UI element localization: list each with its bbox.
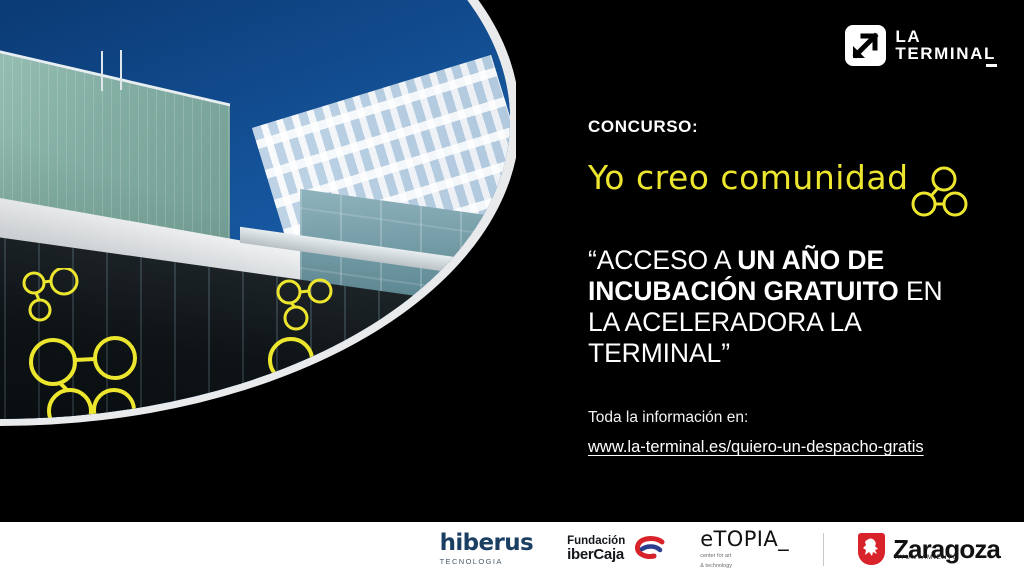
arrow-up-right-icon <box>845 25 886 66</box>
etopia-tagline-1: center for art <box>700 553 731 560</box>
logo-line-terminal: TERMINAL <box>895 46 996 62</box>
campaign-title-text: Yo creo comunidad <box>588 158 909 197</box>
campaign-url-link[interactable]: www.la-terminal.es/quiero-un-despacho-gr… <box>588 438 924 457</box>
sponsor-fundacion-ibercaja[interactable]: Fundación iberCaja <box>567 535 666 563</box>
molecule-cluster-right-mid <box>262 330 382 440</box>
logo-terminal-text: TERMINAL <box>895 44 996 63</box>
ibercaja-wordmark: Fundación iberCaja <box>567 535 625 563</box>
info-label: Toda la información en: <box>588 409 748 427</box>
la-terminal-wordmark: LA TERMINAL <box>895 29 996 62</box>
hiberus-tagline: TECNOLOGIA <box>440 558 503 566</box>
logo-underscore-icon <box>986 64 997 67</box>
photo-shading-overlay <box>0 0 516 522</box>
molecule-cluster-right-lower <box>232 392 352 502</box>
molecule-cluster-lower-left <box>42 382 152 492</box>
grass-lawn <box>0 455 400 522</box>
hiberus-wordmark: hiberus <box>440 532 534 555</box>
etopia-wordmark: eTOPIA_ <box>700 529 789 550</box>
zaragoza-lion-shield-icon <box>858 533 885 565</box>
campaign-title: Yo creo comunidad <box>588 158 909 197</box>
building-photo <box>0 0 516 522</box>
la-terminal-logo[interactable]: LA TERMINAL <box>845 25 996 66</box>
content-column: CONCURSO: Yo creo comunidad “ACCESO A UN… <box>588 0 988 522</box>
headline-part-1: “ACCESO A <box>588 245 737 275</box>
photo-panel <box>0 0 516 522</box>
ibercaja-line-2: iberCaja <box>567 547 625 563</box>
etopia-tagline-2: & technology <box>700 563 732 570</box>
sponsor-etopia[interactable]: eTOPIA_ center for art & technology <box>700 529 789 570</box>
kicker-label: CONCURSO: <box>588 117 698 137</box>
poster-canvas: LA TERMINAL CONCURSO: Yo creo comunidad <box>0 0 1024 576</box>
headline-quote: “ACCESO A UN AÑO DE INCUBACIÓN GRATUITO … <box>588 245 960 369</box>
zaragoza-subtitle: AYUNTAMIENTO <box>895 555 959 562</box>
two-people-speech-bubbles-icon <box>110 400 222 522</box>
molecule-cluster-title-icon <box>910 166 970 218</box>
sponsor-zaragoza[interactable]: Zaragoza AYUNTAMIENTO <box>858 533 1000 565</box>
sponsor-hiberus[interactable]: hiberus TECNOLOGIA <box>440 532 534 566</box>
zaragoza-wordmark: Zaragoza AYUNTAMIENTO <box>893 536 1000 562</box>
sponsor-footer-bar: hiberus TECNOLOGIA Fundación iberCaja eT… <box>0 522 1024 576</box>
sponsor-divider <box>823 533 824 566</box>
ibercaja-swirl-icon <box>632 536 666 562</box>
